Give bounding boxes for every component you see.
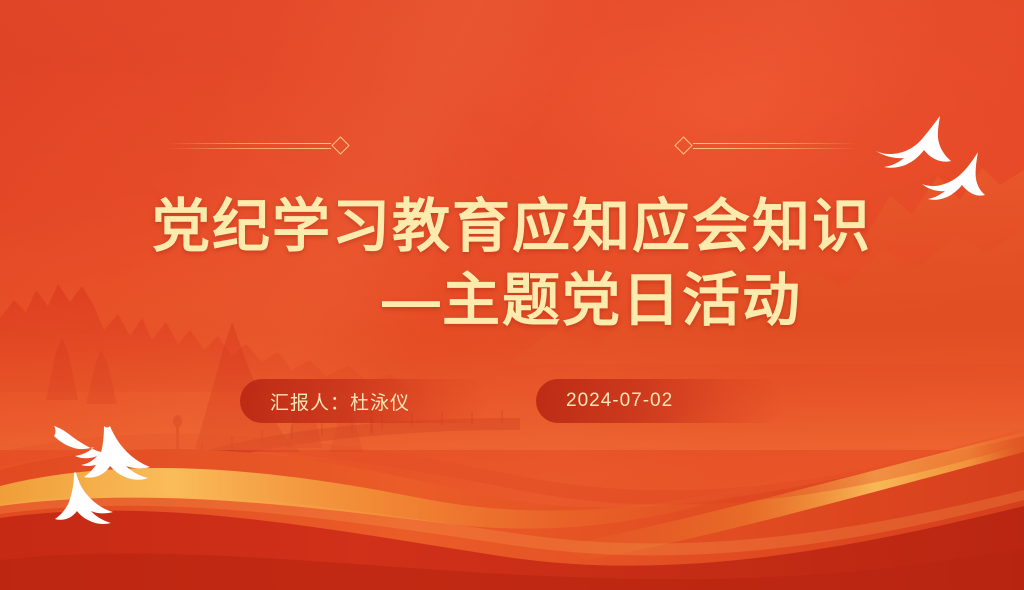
dove-group-bottom-left [38, 420, 208, 525]
dove-icon [876, 116, 951, 168]
diamond-icon [674, 136, 692, 154]
dove-icon [55, 472, 113, 524]
diamond-icon [331, 136, 349, 154]
ornament-right [677, 139, 857, 153]
dove-icon [922, 152, 985, 200]
presentation-slide: 党纪学习教育应知应会知识 —主题党日活动 汇报人：杜泳仪 2024-07-02 [0, 0, 1024, 590]
dove-group-top-right [868, 106, 1018, 216]
title-line-2: —主题党日活动 [0, 264, 1024, 338]
date-badge: 2024-07-02 [536, 379, 784, 423]
ornament-left [167, 139, 347, 153]
slide-meta-row: 汇报人：杜泳仪 2024-07-02 [0, 379, 1024, 423]
presenter-badge: 汇报人：杜泳仪 [240, 379, 488, 423]
